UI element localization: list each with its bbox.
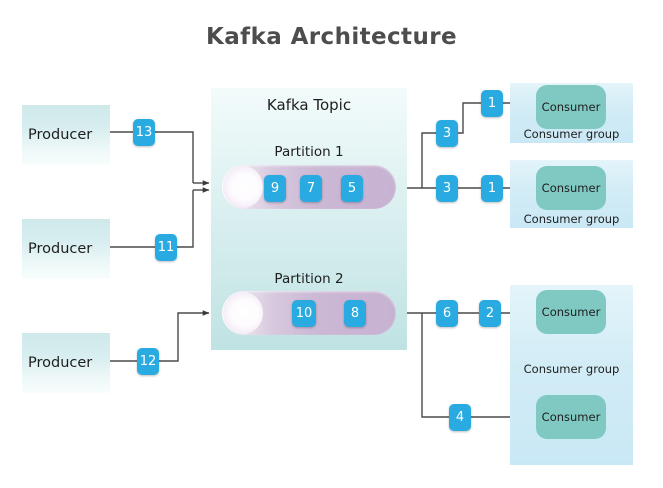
consumer-group-label-2: Consumer group xyxy=(510,212,633,226)
consumer-box-3[interactable]: Consumer xyxy=(536,290,606,334)
page-title: Kafka Architecture xyxy=(0,24,663,50)
message-badge-7[interactable]: 7 xyxy=(300,175,322,202)
route-badge-3-group2[interactable]: 3 xyxy=(436,175,458,202)
consumer-label: Consumer xyxy=(542,100,601,114)
route-badge-3-group1[interactable]: 3 xyxy=(436,120,458,147)
message-badge-5[interactable]: 5 xyxy=(341,175,363,202)
message-badge-10[interactable]: 10 xyxy=(292,300,316,327)
message-badge-13[interactable]: 13 xyxy=(133,119,155,146)
route-badge-1-group1[interactable]: 1 xyxy=(481,90,503,117)
partition-1-label: Partition 1 xyxy=(211,144,407,160)
wire-partition1-branch-up xyxy=(422,133,437,188)
producer-label: Producer xyxy=(28,241,92,257)
kafka-topic-title: Kafka Topic xyxy=(211,96,407,114)
producer-label: Producer xyxy=(28,355,92,371)
message-badge-11[interactable]: 11 xyxy=(155,234,177,261)
producer-box-2[interactable]: Producer xyxy=(22,219,110,279)
consumer-group-label-1: Consumer group xyxy=(510,127,633,141)
producer-box-1[interactable]: Producer xyxy=(22,105,110,165)
route-badge-4[interactable]: 4 xyxy=(449,404,471,431)
wire-badge11-to-partition1 xyxy=(177,190,193,247)
wire-badge13-to-partition1 xyxy=(155,132,193,183)
route-badge-6[interactable]: 6 xyxy=(436,300,458,327)
consumer-box-1[interactable]: Consumer xyxy=(536,85,606,129)
partition-2-label: Partition 2 xyxy=(211,271,407,287)
wire-partition2-branch-down xyxy=(422,313,449,417)
wire-badge3a-to-badge1a xyxy=(458,103,482,133)
message-badge-8[interactable]: 8 xyxy=(344,300,366,327)
message-badge-9[interactable]: 9 xyxy=(264,175,286,202)
message-badge-12[interactable]: 12 xyxy=(137,348,159,375)
producer-box-3[interactable]: Producer xyxy=(22,333,110,393)
consumer-label: Consumer xyxy=(542,305,601,319)
route-badge-2[interactable]: 2 xyxy=(479,300,501,327)
producer-label: Producer xyxy=(28,127,92,143)
consumer-label: Consumer xyxy=(542,410,601,424)
consumer-group-label-3: Consumer group xyxy=(510,362,633,376)
diagram-canvas: Kafka Architecture xyxy=(0,0,663,488)
consumer-box-4[interactable]: Consumer xyxy=(536,395,606,439)
route-badge-1-group2[interactable]: 1 xyxy=(481,175,503,202)
wire-badge12-to-partition2 xyxy=(159,313,209,361)
consumer-box-2[interactable]: Consumer xyxy=(536,166,606,210)
consumer-label: Consumer xyxy=(542,181,601,195)
